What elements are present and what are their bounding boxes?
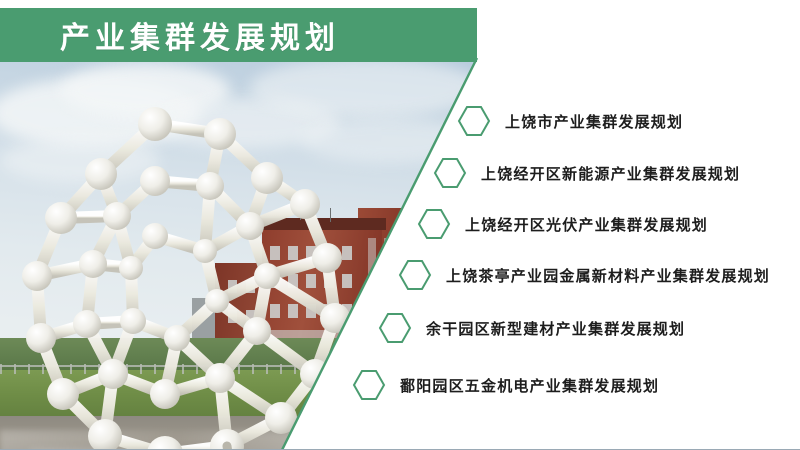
title-banner: 产业集群发展规划 [0,8,477,62]
list-item-label: 余干园区新型建材产业集群发展规划 [426,318,685,339]
list-item[interactable]: 余干园区新型建材产业集群发展规划 [378,311,685,345]
hexagon-icon [398,258,432,292]
list-item[interactable]: 上饶茶亭产业园金属新材料产业集群发展规划 [398,258,770,292]
list-item-label: 上饶经开区光伏产业集群发展规划 [465,214,708,235]
fullerene-sculpture [5,86,365,450]
list-item[interactable]: 上饶经开区新能源产业集群发展规划 [433,156,740,190]
slide-canvas: 产业集群发展规划 上饶市产业集群发展规划 上饶经开区新能源产业集群发展规划 上饶… [0,0,800,450]
hexagon-icon [352,368,386,402]
hexagon-icon [433,156,467,190]
list-item-label: 鄱阳园区五金机电产业集群发展规划 [400,375,659,396]
list-item-label: 上饶茶亭产业园金属新材料产业集群发展规划 [446,265,770,286]
page-title: 产业集群发展规划 [60,8,340,62]
hexagon-icon [457,104,491,138]
list-item[interactable]: 鄱阳园区五金机电产业集群发展规划 [352,368,659,402]
list-item[interactable]: 上饶经开区光伏产业集群发展规划 [417,207,708,241]
list-item-label: 上饶经开区新能源产业集群发展规划 [481,163,740,184]
list-item-label: 上饶市产业集群发展规划 [505,111,683,132]
list-item[interactable]: 上饶市产业集群发展规划 [457,104,683,138]
window [384,238,392,288]
window [368,238,376,288]
hexagon-icon [417,207,451,241]
hexagon-icon [378,311,412,345]
